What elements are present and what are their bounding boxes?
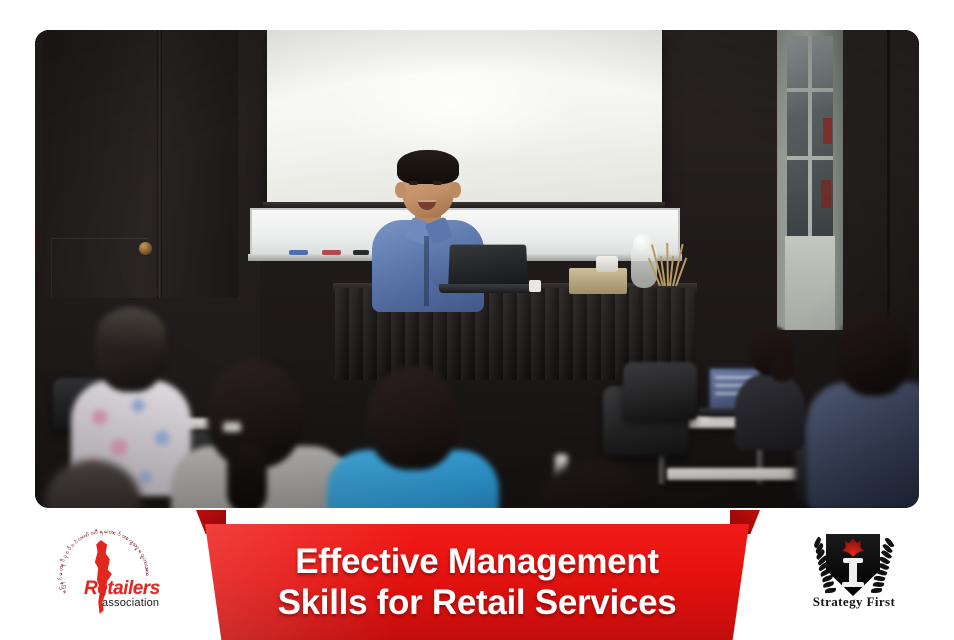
tissue-box: [596, 256, 618, 272]
laurel-leaf: [825, 588, 836, 593]
door-rail-top: [787, 88, 833, 92]
attendee-head: [45, 460, 141, 508]
red-object-behind-glass: [823, 118, 832, 144]
red-object-behind-glass-2: [821, 180, 831, 208]
attendee-head: [367, 366, 459, 470]
banner-title-line2: Skills for Retail Services: [278, 583, 677, 622]
logo-arc-glyph: သ: [143, 571, 150, 576]
logo-arc-glyph: ရ: [99, 529, 103, 536]
logo-arc-glyph: မ: [61, 589, 69, 595]
logo-strategy-first: Strategy First: [790, 532, 918, 624]
torch-icon: [849, 560, 857, 584]
presenter-ear-left: [395, 182, 406, 198]
chair-back: [623, 362, 697, 420]
logo-arc-glyph: မ: [58, 573, 65, 576]
attendee-torso: [735, 372, 805, 450]
right-wall-seam: [887, 30, 890, 330]
marker-red: [322, 250, 341, 255]
presenter-eye-left: [409, 181, 418, 185]
presenter-laptop-screen: [448, 245, 528, 287]
attendee-head: [535, 460, 655, 508]
door-mullion: [808, 36, 812, 236]
logo-retailers-association: မြန်မာနိုင်ငံလက်လီရောင်းချသူများအသ Retai…: [40, 534, 180, 620]
marker-black: [353, 250, 369, 255]
right-wall: [843, 30, 919, 330]
attendee-dark-hair-front: [515, 460, 675, 508]
presenter-laptop-base: [439, 284, 535, 293]
attendee-ponytail: [227, 444, 267, 508]
white-flower: [633, 234, 653, 252]
torch-base: [842, 582, 864, 587]
door-rail-bottom: [787, 156, 833, 160]
event-photo: [35, 30, 919, 508]
left-door-panel: [51, 238, 148, 299]
presenter-placket: [424, 236, 429, 306]
reed-diffuser: [655, 230, 677, 286]
presenter-ear-right: [450, 182, 461, 198]
attendee-head: [837, 310, 911, 396]
attendee-gray-sweater: [171, 360, 351, 508]
attendee-black-top: [735, 326, 805, 446]
poster: Effective Management Skills for Retail S…: [0, 0, 954, 640]
logo-word-association: association: [102, 597, 159, 609]
projector-glow: [327, 42, 577, 162]
left-door-seam: [157, 30, 162, 298]
attendee-bun: [769, 356, 795, 382]
door-knob-icon: [139, 242, 152, 255]
attendee-hair-gray: [97, 308, 165, 356]
marker-blue: [289, 250, 308, 255]
desk-item-white: [529, 280, 541, 292]
attendee-torso: [807, 382, 919, 508]
hair-clip-icon: [223, 422, 241, 432]
attendee-blue-shirt: [327, 366, 499, 508]
presenter-hair: [397, 150, 459, 184]
reed-stick: [666, 243, 669, 286]
laurel-leaf: [872, 581, 884, 588]
laurel-leaf: [871, 588, 882, 593]
banner-title-line1: Effective Management: [295, 542, 659, 581]
logo-word-strategy-first: Strategy First: [790, 594, 918, 610]
presenter-eye-right: [433, 181, 442, 185]
attendee-far-left-front: [35, 456, 185, 508]
laurel-leaf: [823, 581, 835, 588]
banner-title: Effective Management Skills for Retail S…: [205, 524, 749, 640]
attendee-navy-shirt-right: [807, 310, 919, 508]
